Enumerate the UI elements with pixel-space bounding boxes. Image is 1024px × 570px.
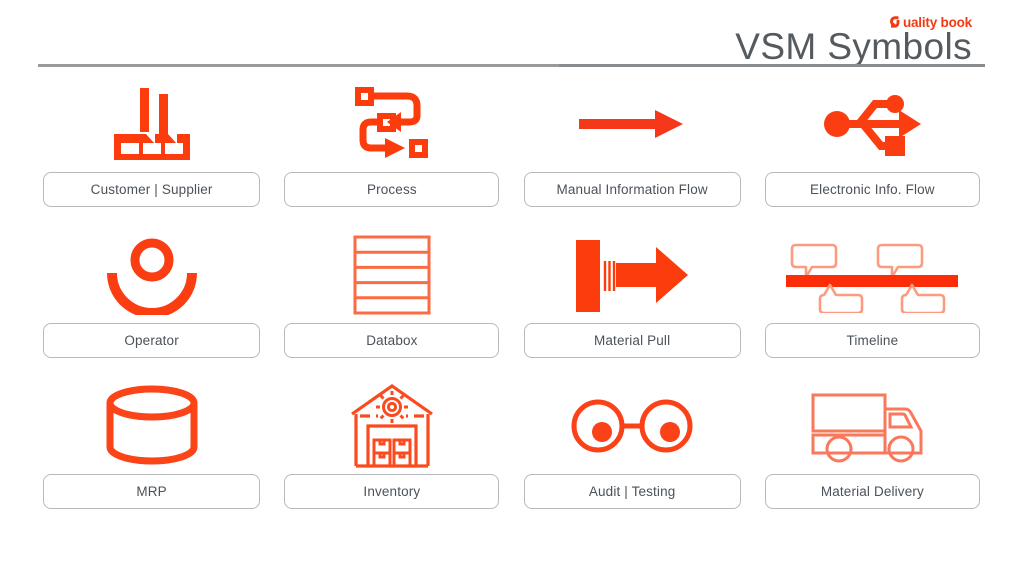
- symbol-label[interactable]: Material Delivery: [765, 474, 980, 509]
- database-cylinder-icon: [38, 378, 265, 474]
- header-divider: [38, 64, 985, 67]
- timeline-bar-icon: [759, 227, 986, 323]
- symbol-card-process[interactable]: Process: [278, 76, 505, 227]
- symbol-grid: Customer | Supplier: [38, 76, 986, 529]
- symbol-card-inventory[interactable]: Inventory: [278, 378, 505, 529]
- straight-arrow-icon: [519, 76, 746, 172]
- process-flow-icon: [278, 76, 505, 172]
- glasses-icon: [519, 378, 746, 474]
- symbol-label[interactable]: Timeline: [765, 323, 980, 358]
- symbol-card-operator[interactable]: Operator: [38, 227, 265, 378]
- symbol-label[interactable]: Customer | Supplier: [43, 172, 260, 207]
- warehouse-gear-icon: [278, 378, 505, 474]
- symbol-card-electronic-info-flow[interactable]: Electronic Info. Flow: [759, 76, 986, 227]
- symbol-label[interactable]: Databox: [284, 323, 499, 358]
- symbol-label[interactable]: Audit | Testing: [524, 474, 741, 509]
- operator-person-icon: [38, 227, 265, 323]
- symbol-card-manual-info-flow[interactable]: Manual Information Flow: [519, 76, 746, 227]
- symbol-card-timeline[interactable]: Timeline: [759, 227, 986, 378]
- symbol-card-customer-supplier[interactable]: Customer | Supplier: [38, 76, 265, 227]
- usb-icon: [759, 76, 986, 172]
- symbol-label[interactable]: Electronic Info. Flow: [765, 172, 980, 207]
- delivery-truck-icon: [759, 378, 986, 474]
- symbol-card-mrp[interactable]: MRP: [38, 378, 265, 529]
- material-pull-arrow-icon: [519, 227, 746, 323]
- symbol-card-material-delivery[interactable]: Material Delivery: [759, 378, 986, 529]
- factory-icon: [38, 76, 265, 172]
- symbol-card-databox[interactable]: Databox: [278, 227, 505, 378]
- page-title: VSM Symbols: [735, 26, 972, 68]
- symbol-label[interactable]: Material Pull: [524, 323, 741, 358]
- databox-table-icon: [278, 227, 505, 323]
- symbol-label[interactable]: MRP: [43, 474, 260, 509]
- symbol-card-material-pull[interactable]: Material Pull: [519, 227, 746, 378]
- symbol-label[interactable]: Manual Information Flow: [524, 172, 741, 207]
- page-header: uality book VSM Symbols: [0, 0, 1024, 72]
- symbol-label[interactable]: Inventory: [284, 474, 499, 509]
- symbol-label[interactable]: Operator: [43, 323, 260, 358]
- symbol-label[interactable]: Process: [284, 172, 499, 207]
- symbol-card-audit-testing[interactable]: Audit | Testing: [519, 378, 746, 529]
